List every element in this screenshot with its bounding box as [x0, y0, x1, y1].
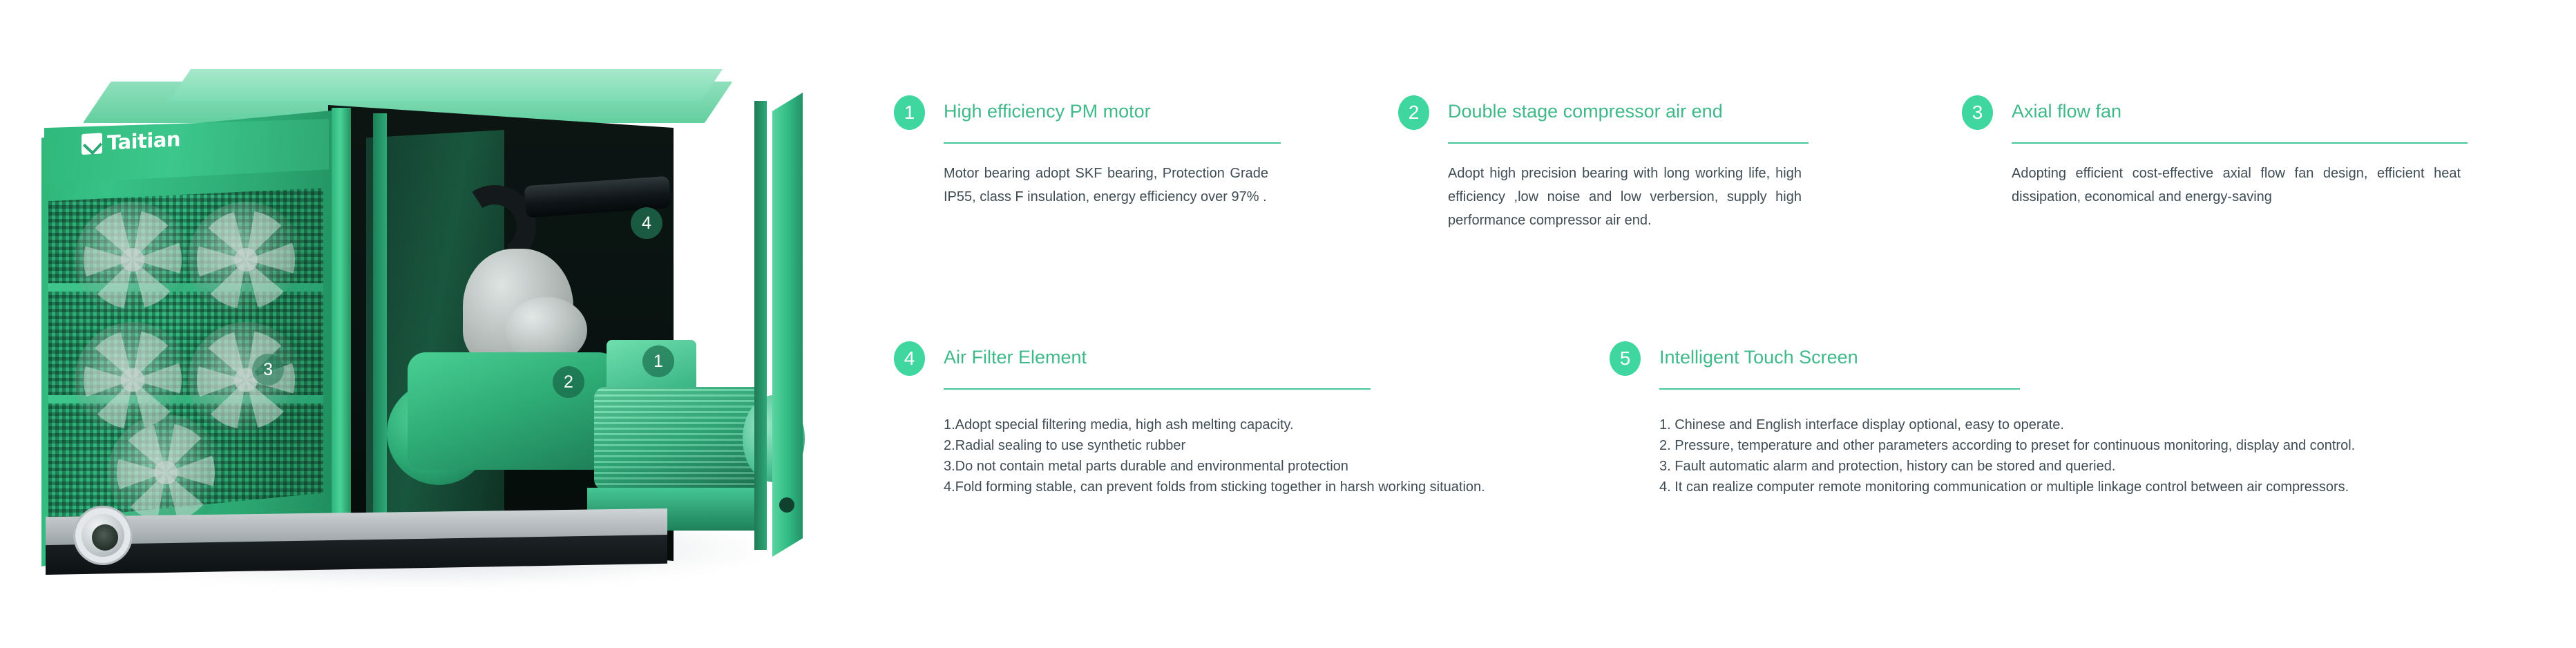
feature-3-rule: [2012, 142, 2468, 144]
feature-1-body: Motor bearing adopt SKF bearing, Protect…: [944, 162, 1268, 209]
feature-3-badge: 3: [1962, 95, 1993, 130]
pm-motor-body: [594, 387, 767, 490]
feature-2-header: 2 Double stage compressor air end: [1398, 95, 1826, 138]
feature-2-badge: 2: [1398, 95, 1429, 130]
axial-fan-2-icon: [188, 202, 304, 318]
feature-card-4: 4 Air Filter Element 1.Adopt special fil…: [894, 341, 1516, 384]
feature-3-title: Axial flow fan: [2012, 101, 2121, 122]
feature-2-rule: [1448, 142, 1809, 144]
cabinet-right-edge: [754, 101, 767, 550]
feature-1-badge: 1: [894, 95, 925, 130]
feature-4-badge: 4: [894, 341, 925, 376]
feature-4-title: Air Filter Element: [944, 347, 1087, 368]
product-render: Taitian 1 2 3 4: [41, 41, 822, 615]
photo-callout-4: 4: [631, 207, 662, 239]
feature-card-2: 2 Double stage compressor air end Adopt …: [1398, 95, 1826, 138]
feature-4-line-1: 1.Adopt special filtering media, high as…: [944, 414, 1552, 435]
photo-callout-1: 1: [642, 345, 674, 377]
feature-4-line-3: 3.Do not contain metal parts durable and…: [944, 456, 1552, 477]
feature-4-body: 1.Adopt special filtering media, high as…: [944, 414, 1552, 497]
feature-1-rule: [944, 142, 1281, 144]
product-feature-page: Taitian 1 2 3 4 1 High efficiency PM mot…: [0, 0, 2576, 648]
feature-2-body: Adopt high precision bearing with long w…: [1448, 162, 1802, 232]
feature-2-title: Double stage compressor air end: [1448, 101, 1723, 122]
compressor-air-end: [408, 352, 622, 470]
feature-5-title: Intelligent Touch Screen: [1659, 347, 1858, 368]
feature-5-line-3: 3. Fault automatic alarm and protection,…: [1659, 456, 2364, 477]
cabinet-right-post: [772, 93, 803, 557]
axial-fan-1-icon: [75, 202, 191, 318]
feature-5-badge: 5: [1610, 341, 1641, 376]
photo-callout-2: 2: [553, 366, 584, 398]
feature-3-header: 3 Axial flow fan: [1962, 95, 2445, 138]
photo-callout-3: 3: [252, 354, 284, 385]
feature-card-3: 3 Axial flow fan Adopting efficient cost…: [1962, 95, 2445, 138]
feature-4-header: 4 Air Filter Element: [894, 341, 1516, 384]
cabinet-right-port: [779, 497, 794, 513]
feature-card-1: 1 High efficiency PM motor Motor bearing…: [894, 95, 1281, 138]
interior-pillar-left: [332, 108, 351, 564]
feature-1-title: High efficiency PM motor: [944, 101, 1151, 122]
feature-5-line-2: 2. Pressure, temperature and other param…: [1659, 435, 2364, 456]
product-photo: Taitian 1 2 3 4: [0, 0, 857, 648]
feature-1-header: 1 High efficiency PM motor: [894, 95, 1281, 138]
cabinet-roof-top: [169, 69, 723, 101]
feature-grid: 1 High efficiency PM motor Motor bearing…: [884, 0, 2576, 648]
feature-5-line-1: 1. Chinese and English interface display…: [1659, 414, 2364, 435]
feature-4-line-2: 2.Radial sealing to use synthetic rubber: [944, 435, 1552, 456]
feature-5-header: 5 Intelligent Touch Screen: [1610, 341, 2356, 384]
axial-fan-5-icon: [108, 414, 224, 531]
brand-name: Taitian: [107, 127, 180, 155]
feature-card-5: 5 Intelligent Touch Screen 1. Chinese an…: [1610, 341, 2356, 384]
feature-5-rule: [1659, 388, 2020, 390]
interior-pillar-inner: [373, 113, 387, 555]
feature-4-rule: [944, 388, 1371, 390]
feature-5-body: 1. Chinese and English interface display…: [1659, 414, 2364, 497]
check-arrow-logo-icon: [82, 133, 102, 155]
axial-fan-4-icon: [188, 322, 304, 438]
feature-3-body: Adopting efficient cost-effective axial …: [2012, 162, 2461, 209]
feature-5-line-4: 4. It can realize computer remote monito…: [1659, 477, 2364, 497]
air-outlet-flange: [73, 506, 133, 565]
feature-4-line-4: 4.Fold forming stable, can prevent folds…: [944, 477, 1552, 497]
